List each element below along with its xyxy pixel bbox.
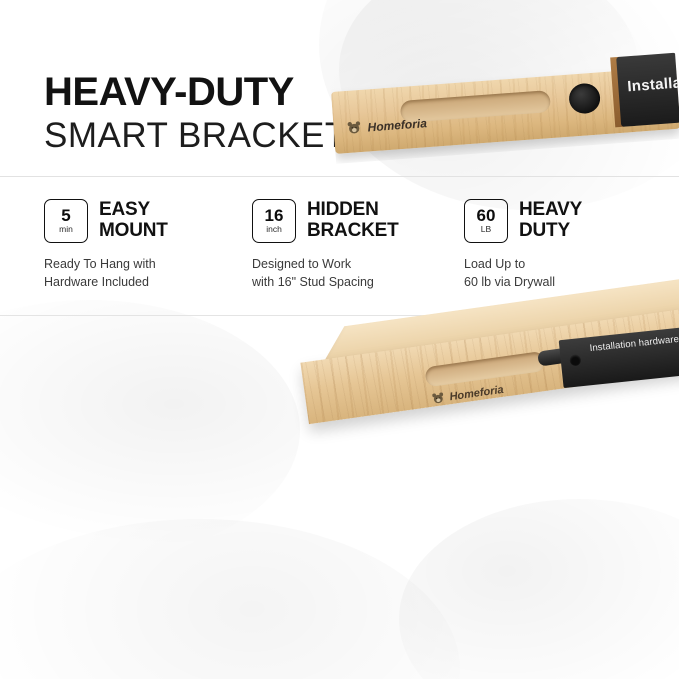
bear-logo-icon	[430, 391, 447, 406]
feature-1-desc-line-2: Hardware Included	[44, 273, 252, 291]
feature-hidden-bracket: 16 inch HIDDEN BRACKET Designed to Work …	[252, 199, 464, 291]
feature-1-desc-line-1: Ready To Hang with	[44, 255, 252, 273]
headline-block: HEAVY-DUTY SMART BRACKET	[44, 72, 347, 156]
feature-1-head: 5 min EASY MOUNT	[44, 199, 252, 243]
feature-1-title-line-1: EASY	[99, 199, 168, 220]
shelf-plate-hole	[569, 354, 581, 366]
headline-line-2: SMART BRACKET	[44, 116, 347, 156]
feature-1-badge-number: 5	[61, 207, 70, 224]
feature-2-title-line-2: BRACKET	[307, 220, 399, 241]
feature-3-title-line-2: DUTY	[519, 220, 582, 241]
bear-logo-icon	[345, 120, 363, 136]
feature-3-title-line-1: HEAVY	[519, 199, 582, 220]
feature-1-title-line-2: MOUNT	[99, 220, 168, 241]
feature-2-description: Designed to Work with 16" Stud Spacing	[252, 255, 464, 291]
feature-2-title: HIDDEN BRACKET	[307, 199, 399, 242]
shelf-hardware-label: Installation hardware	[589, 334, 679, 354]
headline-line-1: HEAVY-DUTY	[44, 72, 347, 113]
feature-easy-mount: 5 min EASY MOUNT Ready To Hang with Hard…	[44, 199, 252, 291]
feature-heavy-duty: 60 LB HEAVY DUTY Load Up to 60 lb via Dr…	[464, 199, 644, 291]
feature-row: 5 min EASY MOUNT Ready To Hang with Hard…	[44, 199, 644, 291]
feature-3-badge-unit: LB	[481, 225, 491, 234]
feature-3-desc-line-1: Load Up to	[464, 255, 644, 273]
feature-2-title-line-1: HIDDEN	[307, 199, 399, 220]
bracket-hero-photo: TOPO bracket by Homeforia UP ✦ 16 INCHES	[0, 430, 679, 679]
feature-3-title: HEAVY DUTY	[519, 199, 582, 242]
feature-3-head: 60 LB HEAVY DUTY	[464, 199, 644, 243]
feature-2-badge: 16 inch	[252, 199, 296, 243]
feature-2-head: 16 inch HIDDEN BRACKET	[252, 199, 464, 243]
feature-2-desc-line-2: with 16" Stud Spacing	[252, 273, 464, 291]
header-divider	[0, 176, 679, 177]
shelf-photo: Homeforia Installation hardware	[318, 274, 679, 449]
feature-2-desc-line-1: Designed to Work	[252, 255, 464, 273]
top-product-photo: Homeforia Installa	[330, 51, 679, 164]
product-infographic: HEAVY-DUTY SMART BRACKET Ho	[0, 0, 679, 679]
feature-1-title: EASY MOUNT	[99, 199, 168, 242]
feature-3-description: Load Up to 60 lb via Drywall	[464, 255, 644, 291]
feature-3-badge-number: 60	[477, 207, 496, 224]
feature-2-badge-unit: inch	[266, 225, 282, 234]
feature-3-badge: 60 LB	[464, 199, 508, 243]
feature-1-badge-unit: min	[59, 225, 73, 234]
feature-1-badge: 5 min	[44, 199, 88, 243]
feature-2-badge-number: 16	[265, 207, 284, 224]
feature-1-description: Ready To Hang with Hardware Included	[44, 255, 252, 291]
